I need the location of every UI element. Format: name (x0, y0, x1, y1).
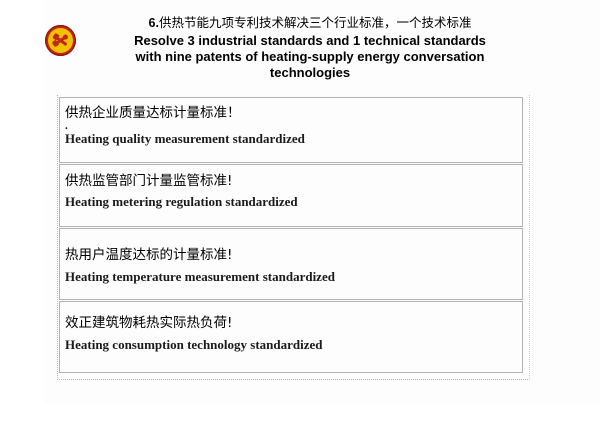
standard-item: 热用户温度达标的计量标准! Heating temperature measur… (59, 228, 523, 300)
standard-english: Heating quality measurement standardized (65, 130, 522, 147)
crossed-tools-badge-icon (45, 25, 76, 56)
slide-header: 6.供热节能九项专利技术解决三个行业标准，一个技术标准 Resolve 3 in… (0, 14, 600, 92)
standards-list: 供热企业质量达标计量标准！ . Heating quality measurem… (59, 97, 523, 376)
standard-item: 效正建筑物耗热实际热负荷! Heating consumption techno… (59, 301, 523, 373)
standard-chinese: 供热企业质量达标计量标准！ (65, 104, 522, 123)
standard-english: Heating temperature measurement standard… (65, 268, 522, 285)
title-english-line-1: Resolve 3 industrial standards and 1 tec… (95, 33, 525, 49)
presentation-slide: 6.供热节能九项专利技术解决三个行业标准，一个技术标准 Resolve 3 in… (0, 0, 600, 424)
standard-item: 供热企业质量达标计量标准！ . Heating quality measurem… (59, 97, 523, 163)
standard-chinese: 效正建筑物耗热实际热负荷! (65, 314, 522, 333)
standard-chinese: 供热监管部门计量监管标准! (65, 172, 522, 191)
standard-item: 供热监管部门计量监管标准! Heating metering regulatio… (59, 164, 523, 227)
title-chinese-text: 供热节能九项专利技术解决三个行业标准，一个技术标准 (159, 15, 472, 30)
standard-english: Heating consumption technology standardi… (65, 336, 522, 353)
title-number: 6. (149, 16, 159, 30)
standard-chinese: 热用户温度达标的计量标准! (65, 246, 522, 265)
standard-english: Heating metering regulation standardized (65, 193, 522, 210)
standard-marker: . (65, 123, 522, 130)
title-english-line-3: technologies (95, 65, 525, 81)
title-english: Resolve 3 industrial standards and 1 tec… (95, 33, 525, 81)
slide-title-block: 6.供热节能九项专利技术解决三个行业标准，一个技术标准 Resolve 3 in… (95, 14, 525, 81)
title-english-line-2: with nine patents of heating-supply ener… (95, 49, 525, 65)
title-chinese: 6.供热节能九项专利技术解决三个行业标准，一个技术标准 (95, 14, 525, 32)
